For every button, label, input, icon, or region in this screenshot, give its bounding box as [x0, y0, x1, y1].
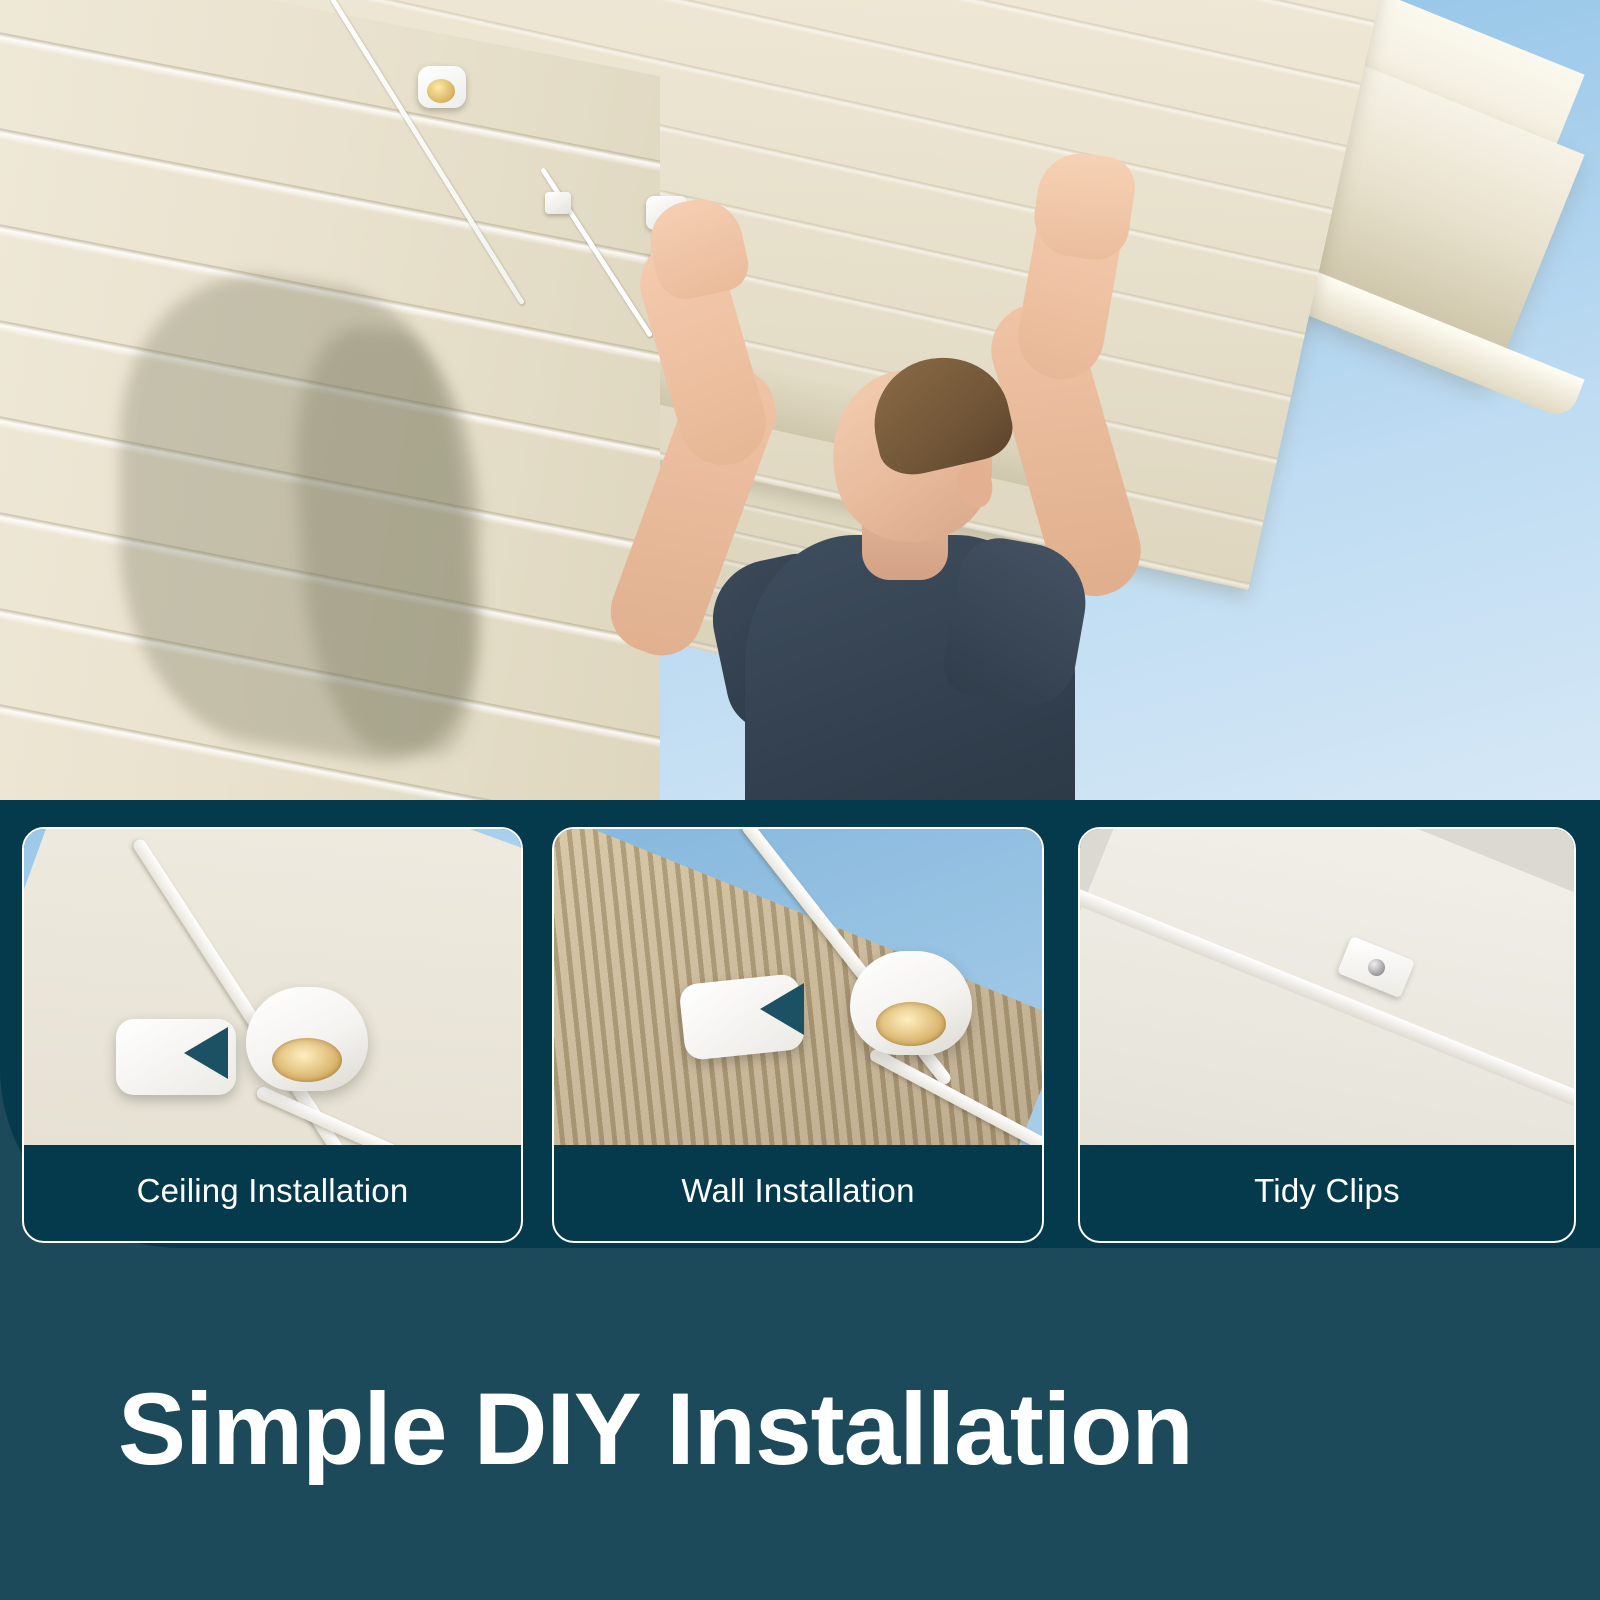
cable-clip: [545, 192, 571, 214]
insert-arrow-icon: [760, 983, 804, 1035]
card-label-wall: Wall Installation: [554, 1141, 1042, 1241]
card-label-tidy-clips: Tidy Clips: [1080, 1141, 1574, 1241]
feature-card-wall-installation[interactable]: Wall Installation: [552, 827, 1044, 1243]
page-headline: Simple DIY Installation: [118, 1372, 1518, 1486]
card-photo-tidy-clips: [1080, 829, 1574, 1145]
insert-arrow-icon: [184, 1027, 228, 1079]
light-bulb-fixture: [418, 66, 466, 108]
feature-card-tidy-clips[interactable]: Tidy Clips: [1078, 827, 1576, 1243]
card-photo-wall: [554, 829, 1042, 1145]
feature-card-ceiling-installation[interactable]: Ceiling Installation: [22, 827, 523, 1243]
hero-photo: [0, 0, 1600, 802]
screw-head-icon: [1368, 959, 1385, 976]
card-label-ceiling: Ceiling Installation: [24, 1141, 521, 1241]
cards-row: Ceiling Installation Wall Installation: [0, 827, 1600, 1245]
person-installing: [600, 190, 1220, 802]
light-fixture: [850, 951, 972, 1055]
soffit-surface: [1080, 829, 1574, 1145]
feature-cards-panel: Ceiling Installation Wall Installation: [0, 800, 1600, 1248]
card-photo-ceiling: [24, 829, 521, 1145]
marketing-image-root: Ceiling Installation Wall Installation: [0, 0, 1600, 1600]
light-fixture: [246, 987, 368, 1091]
